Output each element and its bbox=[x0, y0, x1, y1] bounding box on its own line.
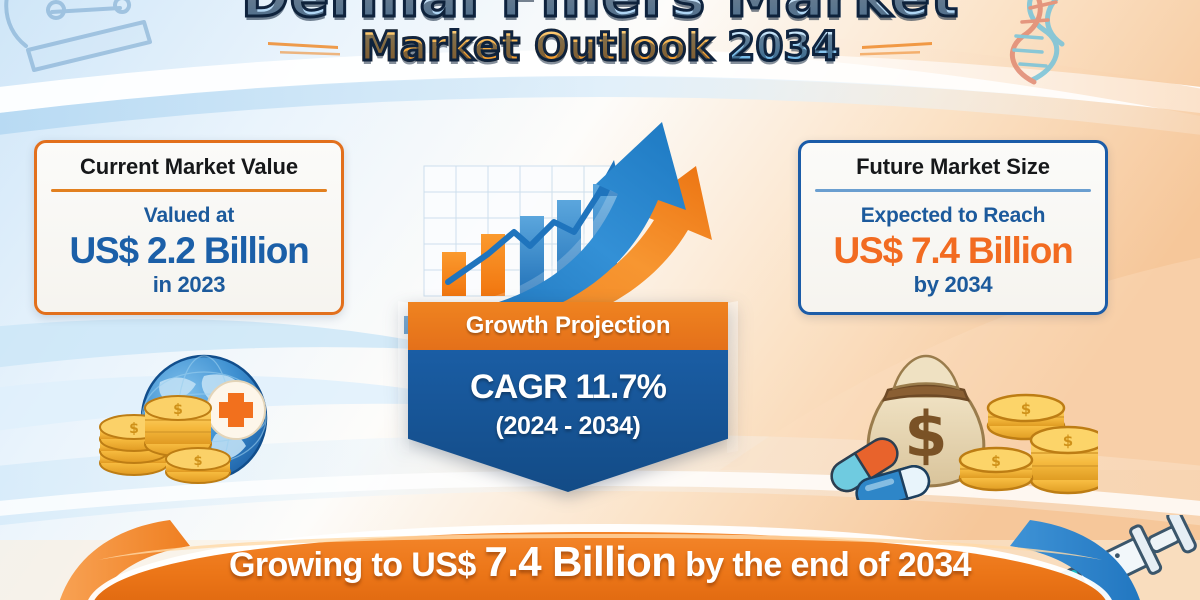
card-heading: Future Market Size bbox=[811, 154, 1095, 189]
growth-projection-panel: Growth Projection CAGR 11.7% (2024 - 203… bbox=[408, 302, 728, 492]
cagr-value: CAGR 11.7% bbox=[408, 368, 728, 407]
card-subtitle: Valued at bbox=[47, 204, 331, 228]
card-year: by 2034 bbox=[811, 272, 1095, 298]
svg-text:$: $ bbox=[173, 402, 183, 418]
current-market-value-card: Current Market Value Valued at US$ 2.2 B… bbox=[34, 140, 344, 315]
card-divider bbox=[815, 189, 1091, 192]
card-year: in 2023 bbox=[47, 272, 331, 298]
money-bag-with-coins-and-pills-icon: $ $ $ $ bbox=[830, 352, 1098, 505]
bottom-banner: Growing to US$ 7.4 Billion by the end of… bbox=[0, 514, 1200, 600]
medical-cross-icon bbox=[207, 381, 265, 439]
growth-chart-graphic bbox=[396, 104, 746, 334]
svg-text:$: $ bbox=[1063, 432, 1073, 450]
coin-stacks: $ $ $ bbox=[100, 396, 230, 483]
card-heading: Current Market Value bbox=[47, 154, 331, 189]
cagr-period: (2024 - 2034) bbox=[408, 412, 728, 441]
card-value: US$ 7.4 Billion bbox=[811, 230, 1095, 271]
globe-with-medical-cross-and-coins-icon: $ $ $ bbox=[52, 348, 292, 503]
panel-right-edge bbox=[727, 301, 738, 453]
dollar-sign: $ bbox=[904, 398, 947, 471]
future-market-size-card: Future Market Size Expected to Reach US$… bbox=[798, 140, 1108, 315]
card-value: US$ 2.2 Billion bbox=[47, 230, 331, 271]
svg-text:$: $ bbox=[1021, 400, 1031, 418]
projection-label: Growth Projection bbox=[408, 312, 728, 340]
card-divider bbox=[51, 189, 327, 192]
svg-text:$: $ bbox=[129, 421, 139, 437]
card-subtitle: Expected to Reach bbox=[811, 204, 1095, 228]
svg-text:$: $ bbox=[991, 454, 1001, 470]
svg-text:$: $ bbox=[193, 454, 202, 469]
